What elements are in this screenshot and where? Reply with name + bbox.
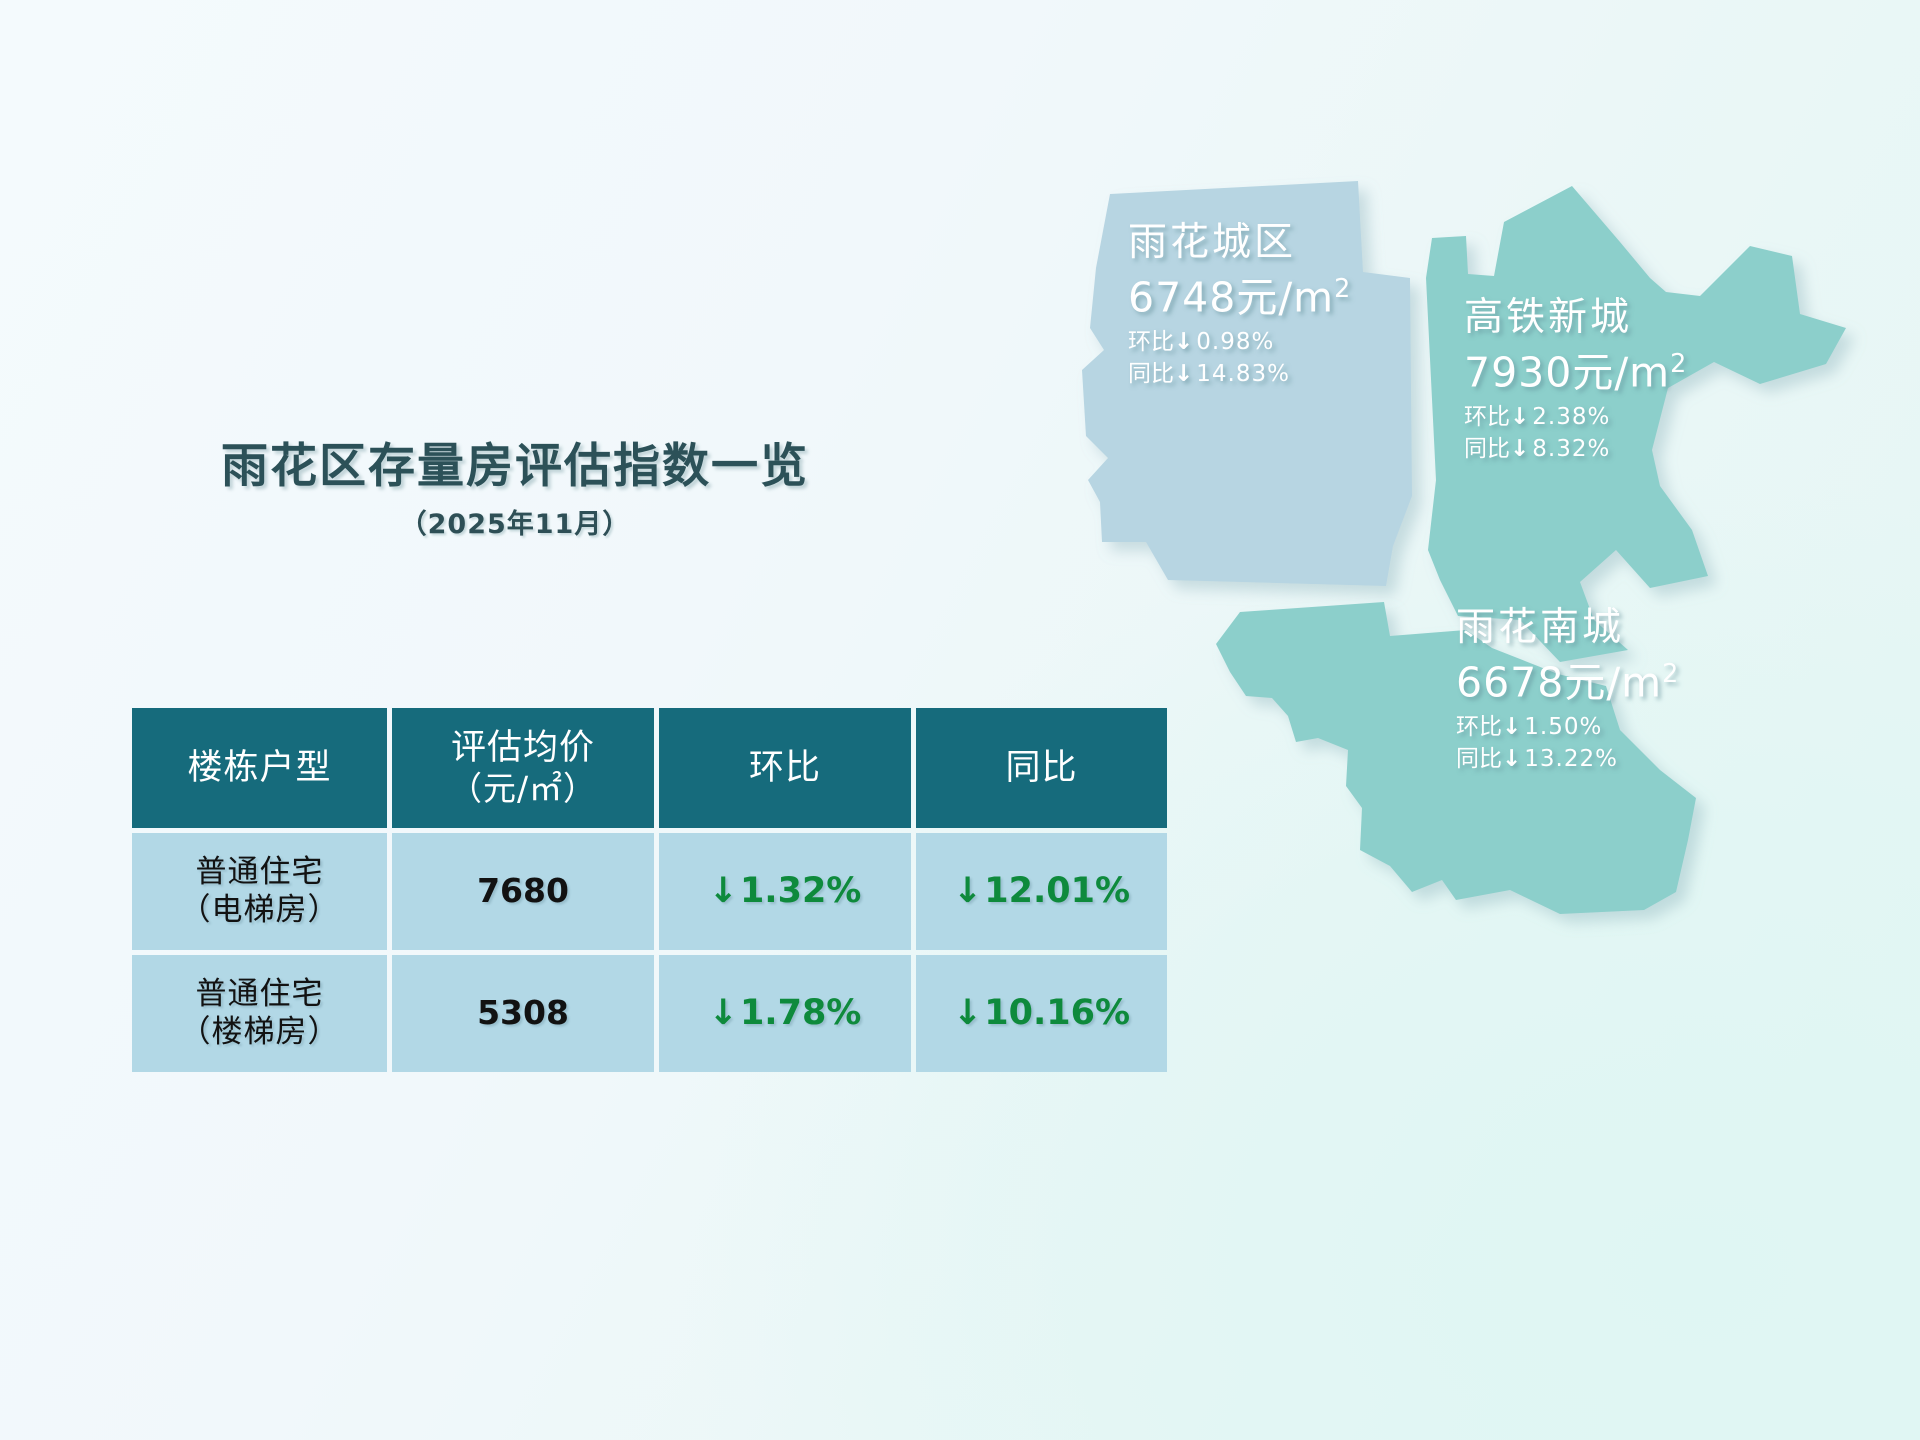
cell-yoy-value: 10.16% <box>984 993 1130 1033</box>
th-mom-label: 环比 <box>749 748 821 788</box>
map-label-mom: 环比↓2.38% <box>1464 406 1687 429</box>
map-label-mom: 环比↓0.98% <box>1128 331 1351 354</box>
cell-building-type: 普通住宅 （电梯房） <box>132 833 387 950</box>
arrow-down-icon: ↓ <box>1502 714 1522 740</box>
arrow-down-icon: ↓ <box>1510 404 1530 430</box>
arrow-down-icon: ↓ <box>709 993 738 1033</box>
cell-building-type-line1: 普通住宅 <box>132 976 387 1014</box>
arrow-down-icon: ↓ <box>709 871 738 911</box>
map-label-yoy: 同比↓8.32% <box>1464 438 1687 461</box>
map-label-name: 雨花南城 <box>1456 608 1679 647</box>
arrow-down-icon: ↓ <box>1174 329 1194 355</box>
cell-average-price: 7680 <box>392 833 654 950</box>
table-body: 普通住宅 （电梯房） 7680 ↓1.32% ↓12.01% 普通住宅 （楼梯房… <box>132 833 1167 1072</box>
arrow-down-icon: ↓ <box>1174 361 1194 387</box>
poster-canvas: 雨花区存量房评估指数一览 （2025年11月） 楼栋户型 评估均价 （元/㎡） … <box>0 0 1920 1440</box>
table-row: 普通住宅 （电梯房） 7680 ↓1.32% ↓12.01% <box>132 833 1167 950</box>
map-label-price: 6748元/m2 <box>1128 276 1351 319</box>
cell-building-type-line2: （电梯房） <box>132 892 387 930</box>
th-building-type: 楼栋户型 <box>132 708 387 828</box>
table-header-row: 楼栋户型 评估均价 （元/㎡） 环比 同比 <box>132 708 1167 828</box>
map-label-yuhua-cheng: 雨花城区 6748元/m2 环比↓0.98% 同比↓14.83% <box>1128 223 1351 386</box>
cell-mom: ↓1.78% <box>659 955 911 1072</box>
cell-building-type-line1: 普通住宅 <box>132 854 387 892</box>
arrow-down-icon: ↓ <box>953 993 982 1033</box>
th-average-price-unit: （元/㎡） <box>392 769 654 809</box>
title-block: 雨花区存量房评估指数一览 （2025年11月） <box>110 440 920 541</box>
cell-mom-value: 1.78% <box>740 993 861 1033</box>
map-label-yoy: 同比↓14.83% <box>1128 363 1351 386</box>
cell-average-price: 5308 <box>392 955 654 1072</box>
th-mom: 环比 <box>659 708 911 828</box>
map-label-price: 6678元/m2 <box>1456 661 1679 704</box>
cell-mom-value: 1.32% <box>740 871 861 911</box>
map-label-yuhua-nan: 雨花南城 6678元/m2 环比↓1.50% 同比↓13.22% <box>1456 608 1679 771</box>
page-title: 雨花区存量房评估指数一览 <box>110 440 920 494</box>
map-label-mom: 环比↓1.50% <box>1456 716 1679 739</box>
arrow-down-icon: ↓ <box>1502 746 1522 772</box>
table-row: 普通住宅 （楼梯房） 5308 ↓1.78% ↓10.16% <box>132 955 1167 1072</box>
th-average-price: 评估均价 （元/㎡） <box>392 708 654 828</box>
table-header: 楼栋户型 评估均价 （元/㎡） 环比 同比 <box>132 708 1167 828</box>
cell-mom: ↓1.32% <box>659 833 911 950</box>
map-label-gaotie: 高铁新城 7930元/m2 环比↓2.38% 同比↓8.32% <box>1464 298 1687 461</box>
map-label-price: 7930元/m2 <box>1464 351 1687 394</box>
arrow-down-icon: ↓ <box>1510 436 1530 462</box>
th-building-type-label: 楼栋户型 <box>187 748 331 788</box>
map-label-name: 雨花城区 <box>1128 223 1351 262</box>
map-label-name: 高铁新城 <box>1464 298 1687 337</box>
map-label-yoy: 同比↓13.22% <box>1456 748 1679 771</box>
page-subtitle: （2025年11月） <box>110 502 920 541</box>
assessment-table: 楼栋户型 评估均价 （元/㎡） 环比 同比 普通住宅 （电梯房） <box>127 703 1172 1077</box>
district-map: 雨花城区 6748元/m2 环比↓0.98% 同比↓14.83% 高铁新城 79… <box>1060 150 1900 980</box>
cell-building-type-line2: （楼梯房） <box>132 1014 387 1052</box>
cell-building-type: 普通住宅 （楼梯房） <box>132 955 387 1072</box>
th-average-price-label: 评估均价 <box>451 728 595 768</box>
arrow-down-icon: ↓ <box>953 871 982 911</box>
